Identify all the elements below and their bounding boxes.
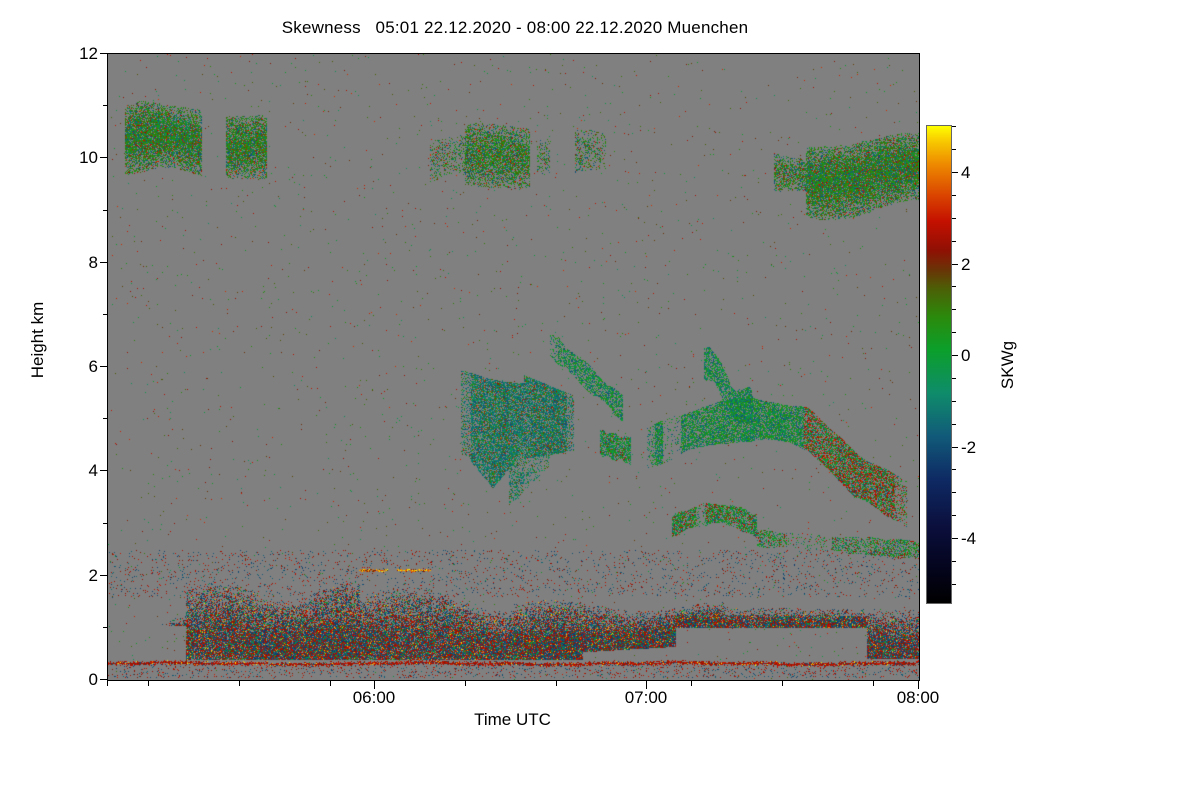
colorbar-tick-mark-minor [952,332,956,333]
colorbar-tick-mark-minor [952,492,956,493]
colorbar-tick-mark [952,538,958,539]
x-tick-label: 06:00 [329,688,419,708]
y-axis-label: Height km [28,260,48,420]
colorbar[interactable] [926,125,952,604]
x-tick-mark-minor [465,680,466,686]
x-tick-mark-minor [239,680,240,686]
x-tick-mark-minor [107,680,108,686]
x-tick-label: 08:00 [873,688,963,708]
colorbar-tick-mark-minor [952,469,956,470]
y-tick-label: 10 [38,149,98,166]
colorbar-tick-label: -2 [961,439,976,456]
colorbar-tick-mark [952,355,958,356]
colorbar-tick-mark-minor [952,149,956,150]
colorbar-tick-mark-minor [952,126,956,127]
colorbar-tick-mark-minor [952,309,956,310]
colorbar-tick-mark-minor [952,241,956,242]
y-tick-label: 4 [38,462,98,479]
colorbar-tick-label: 0 [961,347,970,364]
colorbar-tick-mark-minor [952,286,956,287]
x-tick-label: 07:00 [601,688,691,708]
colorbar-tick-mark-minor [952,424,956,425]
y-tick-label: 6 [38,358,98,375]
colorbar-tick-label: -4 [961,530,976,547]
y-tick-label: 12 [38,45,98,62]
colorbar-tick-mark-minor [952,515,956,516]
x-tick-mark-minor [330,680,331,686]
plot-area[interactable] [107,53,920,681]
colorbar-tick-mark-minor [952,401,956,402]
colorbar-tick-mark-minor [952,584,956,585]
colorbar-tick-mark [952,264,958,265]
x-tick-mark-minor [782,680,783,686]
x-tick-mark-minor [148,680,149,686]
x-tick-mark-minor [873,680,874,686]
colorbar-tick-mark-minor [952,378,956,379]
colorbar-tick-label: 4 [961,164,970,181]
y-tick-label: 8 [38,254,98,271]
colorbar-tick-mark-minor [952,561,956,562]
colorbar-tick-mark-minor [952,218,956,219]
page-title: Skewness 05:01 22.12.2020 - 08:00 22.12.… [0,18,1030,38]
colorbar-tick-label: 2 [961,256,970,273]
colorbar-gradient [926,125,952,604]
y-tick-label: 2 [38,567,98,584]
y-tick-label: 0 [38,671,98,688]
x-tick-mark-minor [556,680,557,686]
heatmap-data-layer [108,54,919,680]
x-tick-mark-minor [691,680,692,686]
colorbar-tick-mark [952,447,958,448]
colorbar-tick-mark [952,172,958,173]
figure-canvas: Skewness 05:01 22.12.2020 - 08:00 22.12.… [0,0,1200,800]
x-axis-label: Time UTC [107,710,918,730]
colorbar-label: SKWg [998,305,1018,425]
colorbar-tick-mark-minor [952,195,956,196]
